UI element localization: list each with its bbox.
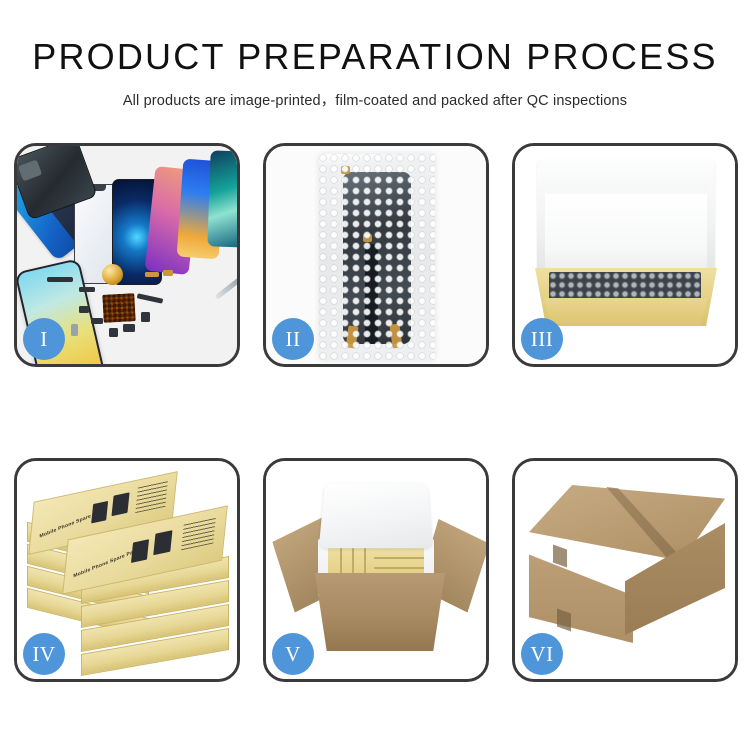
box-thumb-graphic: [111, 492, 129, 516]
panel-5-image: V: [266, 461, 486, 679]
box-print-lines: [135, 480, 168, 513]
part-chip-graphic: [79, 306, 89, 313]
foam-lid-top-graphic: [543, 154, 709, 190]
step-badge-2: II: [272, 318, 314, 360]
foam-sheet-graphic: [545, 194, 707, 272]
page-title: PRODUCT PREPARATION PROCESS: [0, 38, 750, 76]
box-print-lines: [181, 517, 216, 550]
flex-cable-graphic: [137, 293, 163, 303]
part-chip-graphic: [123, 324, 135, 332]
carton-body: [306, 573, 454, 651]
process-step-panel-2[interactable]: II: [263, 143, 489, 367]
process-step-panel-6[interactable]: VI: [512, 458, 738, 682]
step-badge-6: VI: [521, 633, 563, 675]
box-thumb-graphic: [131, 539, 149, 563]
box-thumb-graphic: [91, 501, 108, 524]
box-seam: [374, 567, 424, 569]
kraft-tray-front-graphic: [539, 298, 713, 326]
gold-contact-graphic: [163, 270, 173, 276]
step-badge-3: III: [521, 318, 563, 360]
part-chip-graphic: [79, 287, 95, 292]
step-badge-4: IV: [23, 633, 65, 675]
part-chip-graphic: [109, 328, 118, 337]
carton-front-face: [529, 535, 633, 643]
process-step-panel-3[interactable]: III: [512, 143, 738, 367]
panel-4-image: Mobile Phone Spare Parts Mobile Phone Sp…: [17, 461, 237, 679]
chip-array-graphic: [102, 293, 135, 323]
part-chip-graphic: [91, 318, 103, 324]
panel-1-image: I: [17, 146, 237, 364]
carton-label-patch: [557, 608, 571, 631]
screwdriver-icon: [215, 277, 237, 299]
step-badge-5: V: [272, 633, 314, 675]
bubble-texture: [319, 154, 435, 360]
process-step-grid: I II: [14, 143, 737, 682]
header: PRODUCT PREPARATION PROCESS All products…: [0, 0, 750, 110]
gold-contact-graphic: [145, 272, 159, 277]
step-badge-1: I: [23, 318, 65, 360]
process-step-panel-4[interactable]: Mobile Phone Spare Parts Mobile Phone Sp…: [14, 458, 240, 682]
panel-2-image: II: [266, 146, 486, 364]
page-subtitle: All products are image-printed，film-coat…: [0, 89, 750, 110]
earpiece-speaker-graphic: [47, 277, 73, 282]
speaker-coil-graphic: [102, 264, 123, 285]
product-preparation-infographic: PRODUCT PREPARATION PROCESS All products…: [0, 0, 750, 750]
bubble-wrap-bag-graphic: [319, 154, 435, 360]
panel-6-image: VI: [515, 461, 735, 679]
part-chip-graphic: [71, 324, 78, 336]
process-step-panel-5[interactable]: V: [263, 458, 489, 682]
panel-3-image: III: [515, 146, 735, 364]
phone-screen-teal-graphic: [207, 150, 237, 247]
box-label-text: Mobile Phone Spare Parts: [73, 547, 140, 580]
box-thumb-graphic: [153, 530, 172, 555]
foam-lid-graphic: [319, 483, 434, 548]
part-chip-graphic: [141, 312, 150, 322]
box-seam: [374, 557, 424, 559]
process-step-panel-1[interactable]: I: [14, 143, 240, 367]
carton-label-patch: [553, 544, 567, 567]
